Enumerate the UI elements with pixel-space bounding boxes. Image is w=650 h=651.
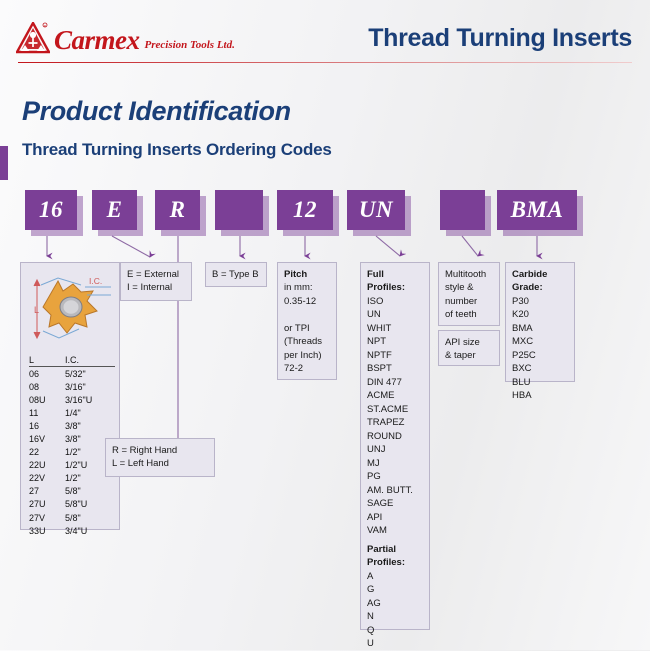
code-box-type[interactable] [215, 190, 263, 230]
pitch-mm-range: 0.35-12 [284, 296, 316, 307]
carbide-grade-box: Carbide Grade: P30K20BMAMXCP25CBXCBLUHBA [505, 262, 575, 382]
grade-item: MXC [512, 335, 568, 348]
document-title: Thread Turning Inserts [368, 24, 632, 53]
multitooth-line3: number [445, 296, 477, 307]
grade-item: HBA [512, 389, 568, 402]
size-table-row: 22V1/2" [29, 472, 115, 485]
pitch-tpi-desc1: (Threads [284, 336, 322, 347]
size-table-row: 33U3/4"U [29, 525, 115, 538]
internal-line: I = Internal [127, 282, 172, 293]
right-hand-line: R = Right Hand [112, 445, 177, 456]
grade-item: K20 [512, 308, 568, 321]
hand-direction-box: R = Right Hand L = Left Hand [105, 438, 215, 477]
size-table-header-ic: I.C. [65, 355, 115, 365]
code-box-multitooth[interactable] [440, 190, 485, 230]
size-ic: 3/16" [65, 381, 115, 394]
api-line2: & taper [445, 350, 476, 361]
size-table-row: 22U1/2"U [29, 459, 115, 472]
size-l: 06 [29, 368, 65, 381]
profile-item: ST.ACME [367, 403, 423, 416]
multitooth-box: Multitooth style & number of teeth [438, 262, 500, 326]
api-box: API size & taper [438, 330, 500, 366]
header-divider [18, 62, 632, 63]
size-table-header: L I.C. [29, 355, 115, 367]
full-profiles-list: ISOUNWHITNPTNPTFBSPTDIN 477ACMEST.ACMETR… [367, 295, 423, 538]
size-l: 27V [29, 512, 65, 525]
size-l: 22U [29, 459, 65, 472]
profile-item: NPT [367, 335, 423, 348]
size-ic: 3/8" [65, 420, 115, 433]
size-table-row: 16V3/8" [29, 433, 115, 446]
partial-profile-item: N [367, 610, 423, 623]
partial-profile-item: G [367, 583, 423, 596]
accent-bar [0, 146, 8, 180]
code-box-grade[interactable]: BMA [497, 190, 577, 230]
type-line: B = Type B [212, 269, 259, 280]
full-profiles-title-2: Profiles: [367, 281, 423, 294]
external-internal-box: E = External I = Internal [120, 262, 192, 301]
carmex-logo: R Carmex Precision Tools Ltd. [16, 22, 235, 54]
code-box-hand[interactable]: R [155, 190, 200, 230]
profile-item: BSPT [367, 362, 423, 375]
partial-profiles-title-2: Profiles: [367, 556, 423, 569]
size-l: 08 [29, 381, 65, 394]
profile-item: UN [367, 308, 423, 321]
size-table-row: 275/8" [29, 485, 115, 498]
size-l: 27 [29, 485, 65, 498]
grade-list: P30K20BMAMXCP25CBXCBLUHBA [512, 295, 568, 403]
grade-title-2: Grade: [512, 281, 568, 294]
pitch-tpi-desc2: per Inch) [284, 350, 322, 361]
size-l: 33U [29, 525, 65, 538]
pitch-mm-label: in mm: [284, 282, 313, 293]
brand-name: Carmex [54, 27, 140, 54]
full-profiles-title-1: Full [367, 268, 423, 281]
multitooth-line1: Multitooth [445, 269, 486, 280]
partial-profiles-list: AGAGNQU [367, 570, 423, 651]
size-l: 08U [29, 394, 65, 407]
size-table-row: 08U3/16"U [29, 394, 115, 407]
profile-item: VAM [367, 524, 423, 537]
profile-item: ROUND [367, 430, 423, 443]
insert-diagram-icon: L I.C. [21, 265, 121, 357]
profile-item: WHIT [367, 322, 423, 335]
size-ic: 5/8"U [65, 498, 115, 511]
grade-item: BMA [512, 322, 568, 335]
pitch-tpi-label: or TPI [284, 323, 310, 334]
api-line1: API size [445, 337, 480, 348]
profile-item: MJ [367, 457, 423, 470]
size-ic: 1/4" [65, 407, 115, 420]
profile-item: ACME [367, 389, 423, 402]
grade-item: P30 [512, 295, 568, 308]
grade-item: BLU [512, 376, 568, 389]
profiles-box: Full Profiles: ISOUNWHITNPTNPTFBSPTDIN 4… [360, 262, 430, 630]
size-table-row: 083/16" [29, 381, 115, 394]
grade-item: BXC [512, 362, 568, 375]
size-table-row: 221/2" [29, 446, 115, 459]
size-l: 27U [29, 498, 65, 511]
section-title: Product Identification [22, 96, 291, 127]
external-line: E = External [127, 269, 179, 280]
partial-profile-item: U [367, 637, 423, 650]
size-table-body: 065/32"083/16"08U3/16"U111/4"163/8"16V3/… [29, 368, 115, 538]
size-table-row: 111/4" [29, 407, 115, 420]
size-table-row: 27U5/8"U [29, 498, 115, 511]
profile-item: API [367, 511, 423, 524]
multitooth-line2: style & [445, 282, 474, 293]
pitch-box: Pitch in mm: 0.35-12 or TPI (Threads per… [277, 262, 337, 380]
size-ic: 3/4"U [65, 525, 115, 538]
page-header: R Carmex Precision Tools Ltd. Thread Tur… [0, 0, 650, 72]
partial-profile-item: Q [367, 624, 423, 637]
carmex-triangle-logo-icon: R [16, 22, 50, 54]
multitooth-line4: of teeth [445, 309, 477, 320]
svg-text:I.C.: I.C. [89, 276, 102, 286]
profile-item: TRAPEZ [367, 416, 423, 429]
pitch-tpi-range: 72-2 [284, 363, 303, 374]
insert-figure-box: L I.C. L I.C. 065/32"083/16"08U3/16"U111… [20, 262, 120, 530]
pitch-title: Pitch [284, 268, 330, 281]
partial-profiles-title-1: Partial [367, 543, 423, 556]
size-l: 16 [29, 420, 65, 433]
size-ic: 5/8" [65, 485, 115, 498]
section-subtitle: Thread Turning Inserts Ordering Codes [22, 140, 332, 160]
profile-item: AM. BUTT. [367, 484, 423, 497]
grade-title-1: Carbide [512, 268, 568, 281]
size-ic: 5/32" [65, 368, 115, 381]
size-l: 22V [29, 472, 65, 485]
size-table-row: 163/8" [29, 420, 115, 433]
size-l: 11 [29, 407, 65, 420]
size-table-row: 27V5/8" [29, 512, 115, 525]
type-box: B = Type B [205, 262, 267, 287]
size-table-header-l: L [29, 355, 65, 365]
code-box-pitch[interactable]: 12 [277, 190, 333, 230]
profile-item: NPTF [367, 349, 423, 362]
code-box-size[interactable]: 16 [25, 190, 77, 230]
size-l: 16V [29, 433, 65, 446]
code-box-profile[interactable]: UN [347, 190, 405, 230]
size-l: 22 [29, 446, 65, 459]
partial-profile-item: AG [367, 597, 423, 610]
partial-profile-item: A [367, 570, 423, 583]
profile-item: PG [367, 470, 423, 483]
profile-item: DIN 477 [367, 376, 423, 389]
size-ic: 5/8" [65, 512, 115, 525]
left-hand-line: L = Left Hand [112, 458, 169, 469]
code-box-external-internal[interactable]: E [92, 190, 137, 230]
grade-item: P25C [512, 349, 568, 362]
size-table-row: 065/32" [29, 368, 115, 381]
profile-item: SAGE [367, 497, 423, 510]
size-table: L I.C. 065/32"083/16"08U3/16"U111/4"163/… [29, 355, 115, 538]
size-ic: 3/16"U [65, 394, 115, 407]
svg-text:L: L [34, 305, 39, 315]
profile-item: UNJ [367, 443, 423, 456]
brand-subtitle: Precision Tools Ltd. [145, 40, 235, 51]
profile-item: ISO [367, 295, 423, 308]
